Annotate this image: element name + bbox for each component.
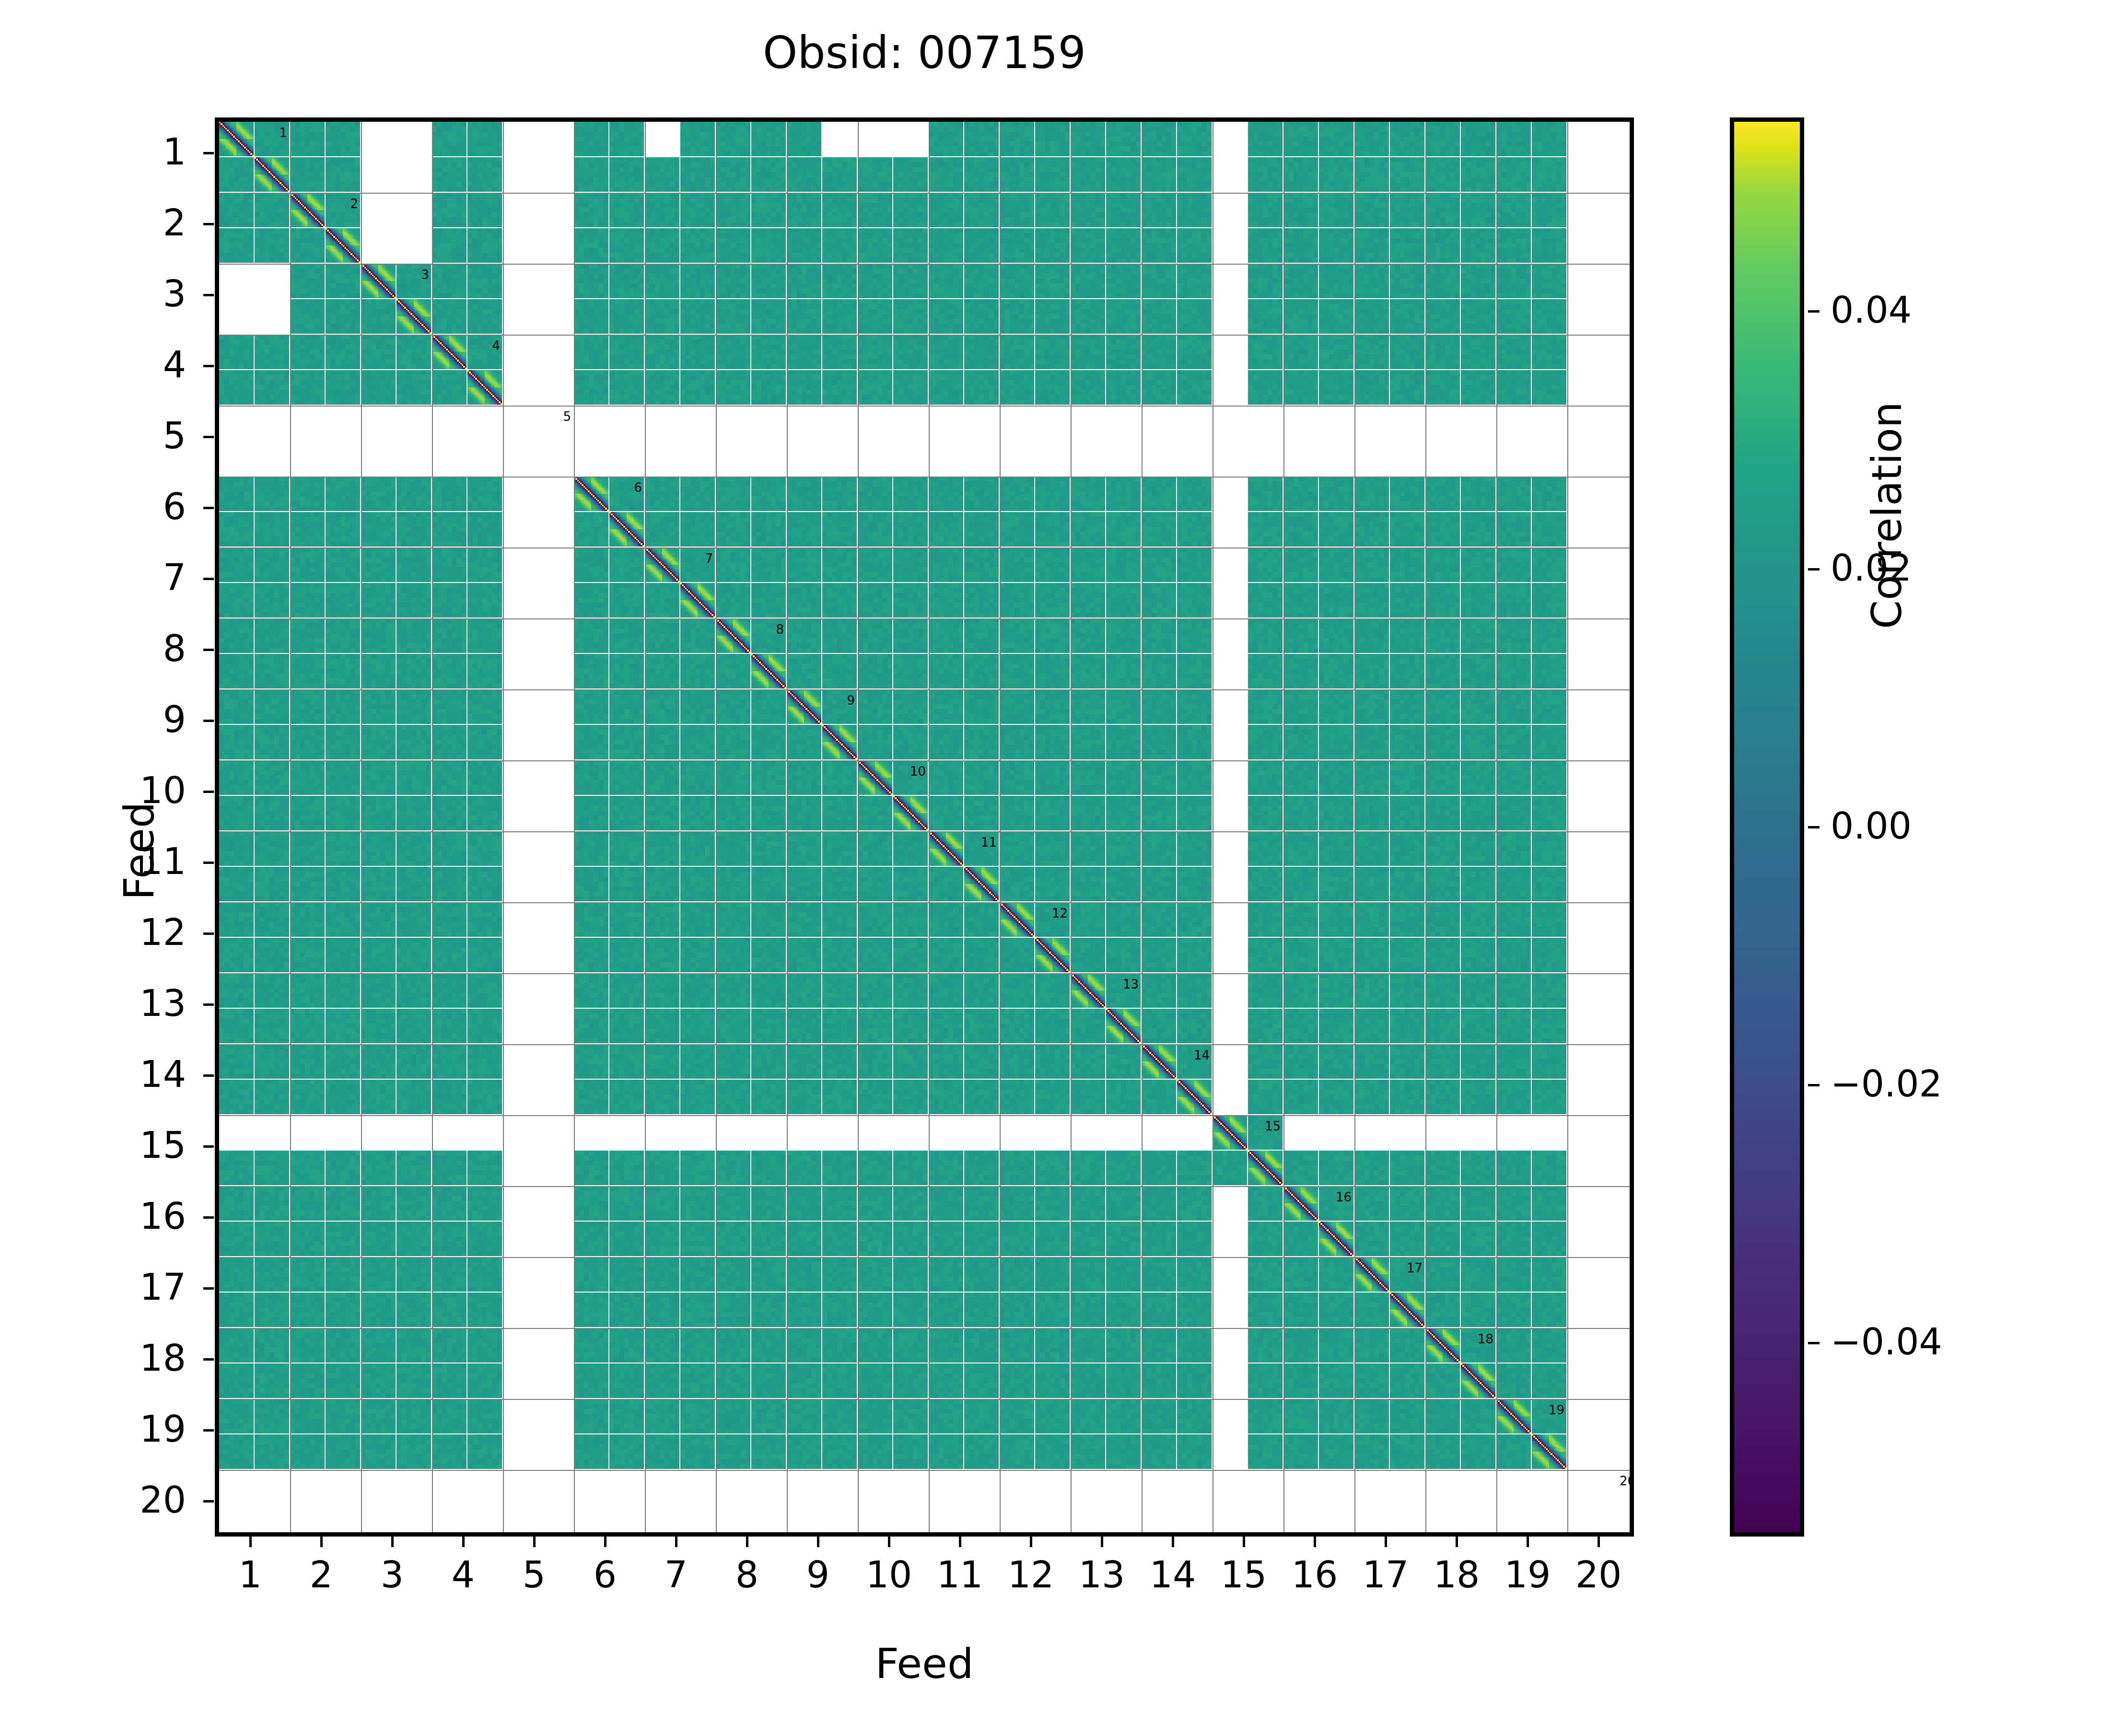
heatmap-pixel [1171,932,1176,937]
heatmap-pixel [497,755,502,759]
heatmap-cell [822,548,857,582]
heatmap-pixel [710,648,715,653]
heatmap-pixel [1313,861,1318,866]
heatmap-pixel [426,967,431,972]
heatmap-pixel [639,258,644,263]
heatmap-pixel [887,1464,892,1469]
heatmap-cell [645,477,679,511]
heatmap-pixel [1100,1109,1105,1114]
heatmap-cell [574,938,608,972]
heatmap-cell [361,1222,396,1256]
heatmap-pixel [1171,258,1176,263]
heatmap-cell [361,1399,396,1433]
heatmap-pixel [958,1074,963,1079]
heatmap-cell [858,1399,892,1433]
heatmap-pixel [1491,1251,1495,1256]
heatmap-pixel [1562,613,1566,618]
heatmap-pixel [1565,1468,1566,1469]
heatmap-pixel [1562,790,1566,795]
heatmap-cell [290,1186,325,1221]
heatmap-cell [751,867,786,901]
heatmap-pixel [391,790,396,795]
heatmap-pixel [1455,542,1460,547]
heatmap-pixel [639,967,644,972]
heatmap-pixel [1207,258,1212,263]
heatmap-pixel [781,1251,786,1256]
heatmap-cell [787,157,821,192]
heatmap-pixel [1420,364,1424,369]
heatmap-cell [290,1151,325,1185]
heatmap-cell [467,122,502,156]
heatmap-pixel [781,1180,786,1185]
heatmap-pixel [355,897,360,901]
heatmap-cell [1532,512,1566,547]
heatmap-cell [255,122,289,156]
heatmap-cell [1461,831,1495,866]
heatmap-pixel [887,755,892,759]
heatmap-cell [1071,1257,1105,1292]
heatmap-pixel [1526,577,1531,582]
heatmap-cell [1496,1044,1531,1079]
heatmap-pixel [639,826,644,830]
heatmap-cell [255,228,289,263]
heatmap-cell [1142,831,1176,866]
heatmap-pixel [1029,1322,1034,1327]
heatmap-pixel [710,400,715,405]
heatmap-pixel [1420,1109,1424,1114]
heatmap-pixel [604,826,608,830]
heatmap-cell [1177,228,1212,263]
heatmap-cell [964,583,999,618]
heatmap-cell [1035,654,1070,688]
heatmap-pixel [497,1003,502,1008]
heatmap-pixel [284,648,289,653]
heatmap-cell [1177,1328,1212,1363]
heatmap-pixel [816,1322,821,1327]
heatmap-pixel [994,506,999,511]
heatmap-cell [255,867,289,901]
heatmap-cell [326,725,360,759]
heatmap-cell [1177,583,1212,618]
heatmap-cell [716,1399,750,1433]
heatmap-pixel [852,222,857,227]
heatmap-pixel [604,932,608,937]
heatmap-pixel [1562,897,1566,901]
heatmap-cell [1461,1363,1495,1398]
heatmap-pixel [1278,222,1283,227]
heatmap-cell [1106,867,1141,901]
heatmap-cell [1142,689,1176,724]
colorbar[interactable] [1730,117,1804,1537]
heatmap-pixel [1420,1358,1424,1363]
heatmap-pixel [781,826,786,830]
heatmap-cell [574,618,608,653]
heatmap-cell [858,1044,892,1079]
heatmap-pixel [426,861,431,866]
heatmap-pixel [994,400,999,405]
heatmap-pixel [249,1109,254,1114]
heatmap-pixel [891,793,892,795]
heatmap-pixel [1526,1464,1531,1469]
heatmap-cell [361,1293,396,1327]
heatmap-cell [361,264,396,298]
heatmap-pixel [1349,1464,1353,1469]
heatmap-cell [787,796,821,830]
heatmap-pixel [1242,1180,1247,1185]
heatmap-pixel [994,1216,999,1221]
heatmap-pixel [320,400,325,405]
heatmap-pixel [1491,897,1495,901]
heatmap-pixel [288,190,289,192]
heatmap-cell [1496,654,1531,688]
heatmap-pixel [249,577,254,582]
heatmap-cell [1106,299,1141,334]
heatmap-cell [645,228,679,263]
heatmap-pixel [249,1074,254,1079]
heatmap-pixel [994,151,999,156]
heatmap-cell [574,512,608,547]
heatmap-cell [751,583,786,618]
heatmap-pixel [320,1251,325,1256]
heatmap-pixel [781,1074,786,1079]
heatmap-pixel [462,222,467,227]
heatmap-cell [432,1293,467,1327]
heatmap-cell [1461,264,1495,298]
heatmap-pixel [639,932,644,937]
heatmap-cell [1319,299,1353,334]
heatmap-pixel [355,1216,360,1221]
heatmap-pixel [1278,1464,1283,1469]
heatmap-pixel [391,1251,396,1256]
heatmap-cell [397,1328,431,1363]
heatmap-cell [255,1186,289,1221]
heatmap-cell [1000,228,1034,263]
heatmap-pixel [604,577,608,582]
heatmap-cell [751,1257,786,1292]
heatmap-pixel [1526,932,1531,937]
correlation-matrix-axes[interactable]: 1234567891011121314151617181920 [215,117,1634,1537]
heatmap-cell [1319,512,1353,547]
heatmap-cell [822,1363,857,1398]
heatmap-cell [1283,1399,1318,1433]
heatmap-cell [361,583,396,618]
heatmap-cell [397,1009,431,1043]
heatmap-cell [1071,938,1105,972]
heatmap-cell [1425,1044,1460,1079]
heatmap-cell [432,583,467,618]
heatmap-pixel [816,1216,821,1221]
heatmap-cell [1106,1257,1141,1292]
heatmap-pixel [604,648,608,653]
heatmap-pixel [923,684,928,688]
heatmap-cell [1106,548,1141,582]
heatmap-pixel [852,967,857,972]
heatmap-pixel [1029,755,1034,759]
heatmap-pixel [923,1429,928,1433]
heatmap-pixel [604,613,608,618]
heatmap-cell [680,1434,715,1469]
heatmap-pixel [1207,897,1212,901]
x-tick-mark-8 [746,1537,748,1547]
heatmap-cell [1283,583,1318,618]
heatmap-cell [432,1434,467,1469]
heatmap-cell [964,299,999,334]
heatmap-cell [964,973,999,1008]
heatmap-cell [1035,1257,1070,1292]
heatmap-pixel [816,151,821,156]
heatmap-pixel [1455,897,1460,901]
heatmap-cell [751,796,786,830]
heatmap-pixel [462,719,467,724]
heatmap-pixel [1136,897,1141,901]
heatmap-cell [929,654,963,688]
heatmap-pixel [284,1429,289,1433]
heatmap-cell [1248,1399,1283,1433]
heatmap-cell [219,1044,254,1079]
heatmap-cell [609,1399,644,1433]
heatmap-pixel [816,1003,821,1008]
heatmap-cell [1354,1222,1389,1256]
heatmap-cell [1177,548,1212,582]
heatmap-cell [1390,583,1424,618]
heatmap-pixel [426,577,431,582]
heatmap-cell [1496,335,1531,369]
heatmap-pixel [746,967,750,972]
heatmap-cell [219,477,254,511]
heatmap-pixel [1384,577,1389,582]
heatmap-cell [858,902,892,937]
heatmap-cell [397,1186,431,1221]
heatmap-cell [751,335,786,369]
heatmap-pixel [604,222,608,227]
heatmap-pixel [1136,790,1141,795]
heatmap-pixel [320,1358,325,1363]
heatmap-cell [467,335,502,369]
heatmap-pixel [252,155,254,156]
heatmap-cell [1283,831,1318,866]
heatmap-pixel [1455,790,1460,795]
heatmap-pixel [1491,151,1495,156]
heatmap-pixel [781,755,786,759]
colorbar-label: Correlation [1863,348,1911,683]
heatmap-pixel [426,293,431,298]
heatmap-cell [255,335,289,369]
heatmap-cell [929,618,963,653]
heatmap-cell [432,228,467,263]
heatmap-pixel [355,826,360,830]
heatmap-cell [964,689,999,724]
heatmap-pixel [1313,187,1318,192]
heatmap-cell [1106,122,1141,156]
heatmap-cell [290,689,325,724]
heatmap-cell [964,1399,999,1433]
heatmap-cell [219,1363,254,1398]
heatmap-cell [822,157,857,192]
heatmap-pixel [1526,967,1531,972]
heatmap-pixel [465,368,467,369]
heatmap-pixel [1065,826,1070,830]
heatmap-cell [680,831,715,866]
heatmap-cell [964,370,999,405]
heatmap-pixel [1455,364,1460,369]
heatmap-cell [1425,1363,1460,1398]
heatmap-pixel [1100,613,1105,618]
heatmap-cell [361,1151,396,1185]
colorbar-tick-mark-3 [1808,1084,1819,1086]
heatmap-pixel [852,364,857,369]
heatmap-cell [255,902,289,937]
heatmap-pixel [1065,1393,1070,1398]
heatmap-cell [822,973,857,1008]
heatmap-cell [1142,548,1176,582]
heatmap-cell [716,1222,750,1256]
heatmap-cell [361,796,396,830]
heatmap-pixel [1029,222,1034,227]
heatmap-pixel [1207,1251,1212,1256]
heatmap-pixel [497,648,502,653]
heatmap-cell [1071,1044,1105,1079]
heatmap-pixel [852,293,857,298]
heatmap-pixel [355,861,360,866]
heatmap-cell [1000,1434,1034,1469]
heatmap-pixel [1033,935,1034,937]
heatmap-cell [751,477,786,511]
heatmap-pixel [1491,1180,1495,1185]
heatmap-pixel [391,1216,396,1221]
heatmap-cell [1496,1399,1531,1433]
heatmap-cell [1106,938,1141,972]
heatmap-cell [1106,796,1141,830]
heatmap-pixel [639,577,644,582]
heatmap-pixel [355,577,360,582]
heatmap-cell [1354,1328,1389,1363]
y-tick-label-6: 6 [13,489,186,525]
heatmap-cell [858,867,892,901]
heatmap-cell [964,654,999,688]
heatmap-pixel [1526,1322,1531,1327]
x-tick-mark-19 [1527,1537,1529,1547]
heatmap-pixel [391,1322,396,1327]
heatmap-pixel [1562,293,1566,298]
heatmap-pixel [430,332,431,334]
heatmap-pixel [1207,1074,1212,1079]
heatmap-cell [787,654,821,688]
heatmap-pixel [426,826,431,830]
heatmap-cell [1319,1044,1353,1079]
heatmap-pixel [923,648,928,653]
heatmap-pixel [852,1251,857,1256]
heatmap-cell [716,548,750,582]
y-tick-mark-14 [203,1074,214,1077]
heatmap-pixel [1349,755,1353,759]
heatmap-pixel [1278,826,1283,830]
heatmap-cell [1142,1328,1176,1363]
heatmap-pixel [426,1038,431,1043]
heatmap-cell [929,122,963,156]
heatmap-cell [1425,1257,1460,1292]
heatmap-cell [1248,938,1283,972]
heatmap-cell [645,264,679,298]
heatmap-pixel [639,329,644,334]
heatmap-cell [822,264,857,298]
heatmap-cell [716,725,750,759]
heatmap-pixel [816,1429,821,1433]
heatmap-pixel [1455,1287,1460,1292]
heatmap-cell [467,512,502,547]
heatmap-cell [1390,867,1424,901]
heatmap-cell [609,1186,644,1221]
heatmap-pixel [781,400,786,405]
heatmap-cell [1461,1257,1495,1292]
heatmap-cell [467,1257,502,1292]
heatmap-cell [609,1257,644,1292]
heatmap-cell [1035,1222,1070,1256]
heatmap-cell [1106,1328,1141,1363]
heatmap-pixel [462,1074,467,1079]
heatmap-cell [893,157,928,192]
heatmap-cell [1425,512,1460,547]
heatmap-cell [432,1363,467,1398]
heatmap-cell [609,902,644,937]
heatmap-cell [893,477,928,511]
heatmap-cell [1106,1222,1141,1256]
heatmap-pixel [852,719,857,724]
heatmap-pixel [249,1038,254,1043]
heatmap-cell [1496,831,1531,866]
heatmap-pixel [1313,1358,1318,1363]
heatmap-pixel [604,719,608,724]
heatmap-pixel [1065,1322,1070,1327]
heatmap-pixel [746,790,750,795]
heatmap-pixel [249,1251,254,1256]
heatmap-cell [1000,1399,1034,1433]
heatmap-cell [929,1257,963,1292]
heatmap-cell [609,1080,644,1114]
heatmap-cell [1283,335,1318,369]
heatmap-pixel [852,861,857,866]
heatmap-cell [1354,1080,1389,1114]
heatmap-pixel [852,648,857,653]
heatmap-cell [1035,1080,1070,1114]
heatmap-cell [1390,193,1424,227]
heatmap-pixel [1491,1216,1495,1221]
heatmap-cell [645,1151,679,1185]
heatmap-pixel [781,542,786,547]
heatmap-pixel [1100,1393,1105,1398]
heatmap-cell [1035,512,1070,547]
colorbar-tick-mark-0 [1808,310,1819,313]
heatmap-cell [219,1186,254,1221]
heatmap-cell [326,1328,360,1363]
heatmap-cell [1532,725,1566,759]
colorbar-tick-mark-2 [1808,826,1819,828]
heatmap-cell [255,157,289,192]
heatmap-cell [432,1044,467,1079]
heatmap-cell [1000,796,1034,830]
heatmap-cell [1000,902,1034,937]
heatmap-pixel [462,1287,467,1292]
heatmap-pixel [1349,506,1353,511]
heatmap-pixel [1278,967,1283,972]
heatmap-pixel [1278,897,1283,901]
heatmap-cell [255,1399,289,1433]
heatmap-pixel [391,577,396,582]
heatmap-pixel [1207,648,1212,653]
heatmap-cell [219,583,254,618]
heatmap-cell [1000,157,1034,192]
heatmap-cell [467,370,502,405]
heatmap-cell [1071,1080,1105,1114]
